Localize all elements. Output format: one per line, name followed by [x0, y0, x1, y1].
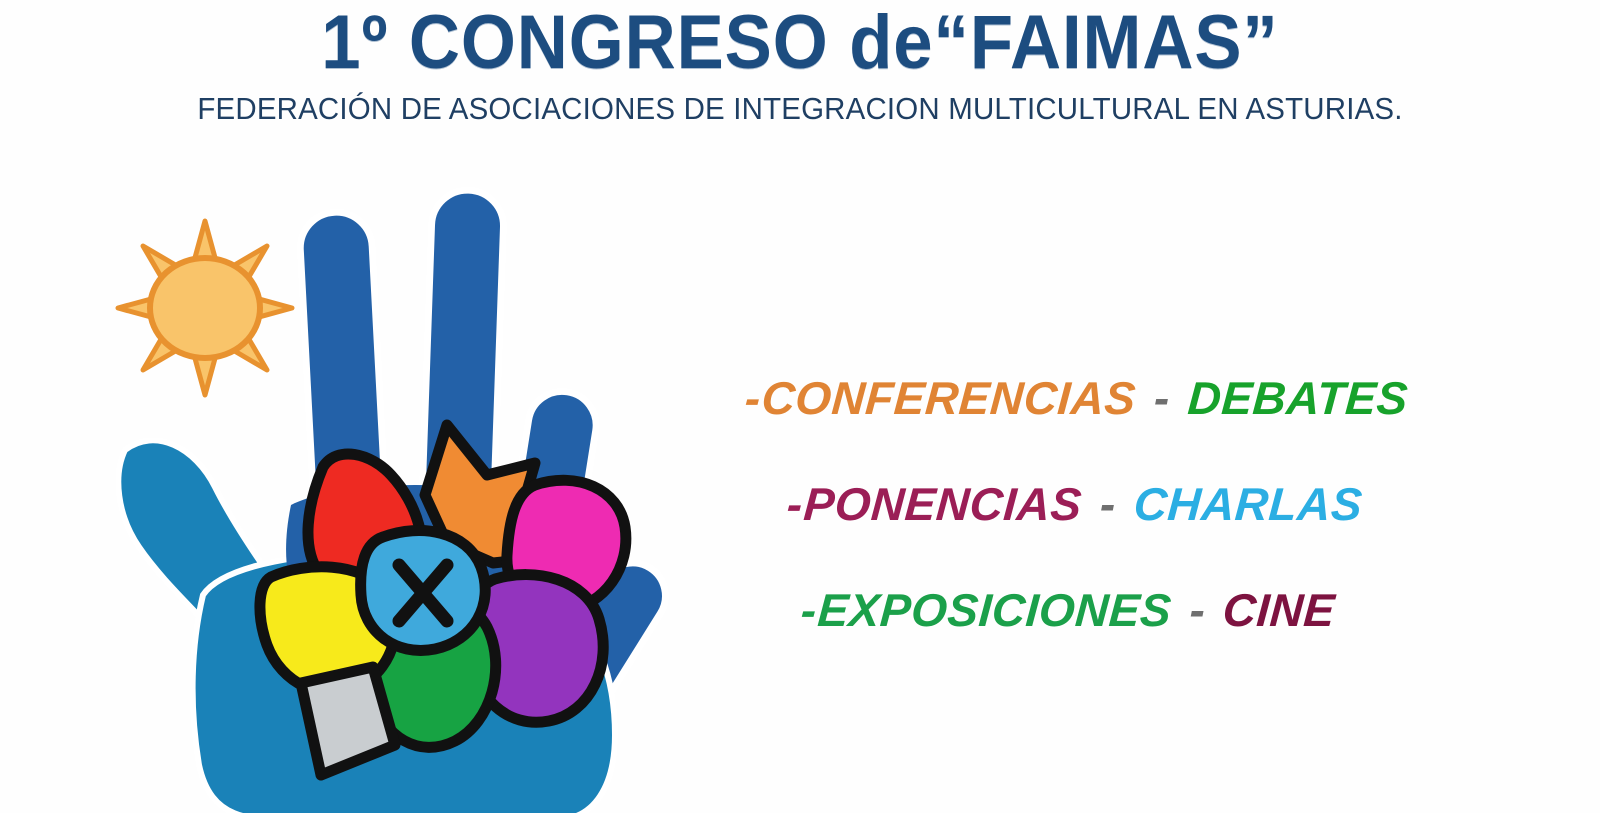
activity-row-2: -PONENCIAS - CHARLAS — [735, 451, 1495, 557]
separator-dash-3: - — [1189, 583, 1205, 637]
artwork-illustration — [95, 175, 715, 813]
activity-conferencias: -CONFERENCIAS — [743, 371, 1138, 425]
activity-ponencias: -PONENCIAS — [785, 477, 1084, 531]
header: 1º CONGRESO de“FAIMAS” FEDERACIÓN DE ASO… — [0, 0, 1600, 128]
page-subtitle: FEDERACIÓN DE ASOCIACIONES DE INTEGRACIO… — [40, 86, 1560, 128]
activity-charlas-label: CHARLAS — [1132, 478, 1364, 530]
activity-exposiciones-label: EXPOSICIONES — [816, 584, 1173, 636]
activities-list: -CONFERENCIAS - DEBATES -PONENCIAS - CHA… — [735, 345, 1495, 663]
activity-debates-label: DEBATES — [1186, 372, 1410, 424]
activity-row-3: -EXPOSICIONES - CINE — [735, 557, 1495, 663]
page-title: 1º CONGRESO de“FAIMAS” — [56, 0, 1544, 86]
activity-ponencias-label: PONENCIAS — [802, 478, 1084, 530]
sun-icon — [118, 221, 292, 395]
activity-exposiciones: -EXPOSICIONES — [799, 583, 1173, 637]
activity-cine-label: CINE — [1221, 584, 1337, 636]
poster-canvas: 1º CONGRESO de“FAIMAS” FEDERACIÓN DE ASO… — [0, 0, 1600, 813]
activity-cine: CINE — [1221, 583, 1337, 637]
activity-debates: DEBATES — [1186, 371, 1410, 425]
separator-dash-1: - — [1154, 371, 1170, 425]
activity-row-1: -CONFERENCIAS - DEBATES — [735, 345, 1495, 451]
separator-dash-2: - — [1100, 477, 1116, 531]
activity-charlas: CHARLAS — [1132, 477, 1364, 531]
activity-conferencias-label: CONFERENCIAS — [760, 372, 1138, 424]
